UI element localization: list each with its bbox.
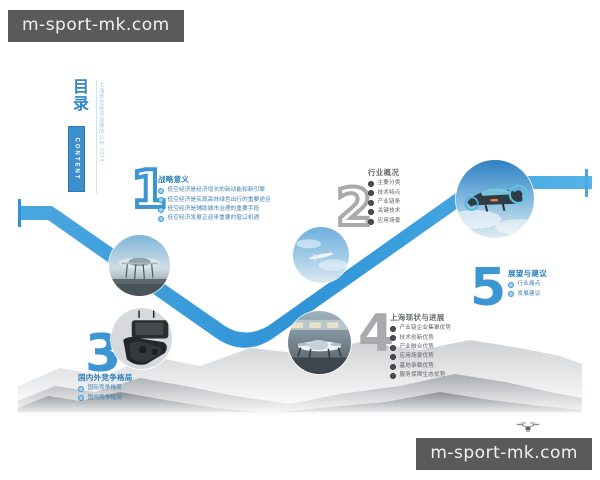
bullet-label: 关键技术 [378, 209, 401, 215]
bullet-item: 国内竞争格局 [78, 395, 133, 401]
bullet-dot-icon [78, 395, 84, 401]
evtol-aircraft-icon [109, 235, 170, 296]
section-bullets-4: 产业链企业集聚优势 技术创新优势 产业融合优势 应用场景优势 基地承载优势 服务… [390, 326, 451, 379]
bullet-label: 技术特点 [378, 191, 401, 197]
bullet-item: 低空经济发展正迎来重要的窗口机遇 [158, 216, 271, 222]
bullet-label: 低空经济发展正迎来重要的窗口机遇 [168, 216, 260, 222]
bullet-dot-icon [158, 207, 164, 213]
bullet-dot-icon [78, 386, 84, 392]
catalog-title-block: 目录 上海低空经济发展的公布 2024 CONTENT [64, 80, 140, 196]
watermark-bottom: m-sport-mk.com [416, 438, 592, 470]
bullet-dot-icon [368, 209, 374, 215]
section-number-5: 5 [470, 262, 506, 314]
bullet-item: 低空经济是辅助城市治理的重要手段 [158, 207, 271, 213]
bullet-dot-icon [158, 188, 164, 194]
bullet-item: 基地承载优势 [390, 364, 451, 370]
bullet-label: 基地承载优势 [400, 364, 434, 370]
section-bullets-5: 行业痛点 发展建议 [508, 282, 547, 297]
bullet-item: 低空经济是实现高效绿色出行的重要途径 [158, 197, 271, 203]
bullet-dot-icon [158, 216, 164, 222]
section-bullets-3: 国际竞争格局 国内竞争格局 [78, 386, 133, 401]
bullet-dot-icon [390, 364, 396, 370]
section-number-2: 2 [336, 182, 372, 234]
rc-controller-icon [111, 308, 172, 369]
section-block-2: 行业概况 主要分类 技术特点 产业链条 关键技术 应用场景 [368, 167, 400, 228]
drone-controller-photo [111, 308, 172, 369]
flying-car-icon [456, 160, 534, 238]
section-bullets-2: 主要分类 技术特点 产业链条 关键技术 应用场景 [368, 181, 400, 225]
bullet-item: 产业链条 [368, 200, 400, 206]
bullet-item: 产业融合优势 [390, 345, 451, 351]
bullet-dot-icon [390, 335, 396, 341]
bullet-label: 国际竞争格局 [88, 386, 122, 392]
section-title-2: 行业概况 [368, 167, 400, 178]
bullet-label: 发展建议 [518, 292, 541, 298]
bullet-dot-icon [368, 219, 374, 225]
bullet-label: 主要分类 [378, 181, 401, 187]
aircraft-in-sky-photo [293, 227, 349, 283]
bullet-dot-icon [158, 197, 164, 203]
bullet-label: 国内竞争格局 [88, 396, 122, 402]
bullet-item: 国际竞争格局 [78, 386, 133, 392]
bullet-item: 关键技术 [368, 209, 400, 215]
bullet-dot-icon [508, 291, 514, 297]
catalog-content-badge: CONTENT [68, 126, 85, 192]
bullet-dot-icon [368, 200, 374, 206]
screenshot-canvas: 目录 上海低空经济发展的公布 2024 CONTENT 1 2 3 4 5 战略… [0, 0, 600, 480]
bullet-item: 产业链企业集聚优势 [390, 326, 451, 332]
bullet-label: 行业痛点 [518, 282, 541, 288]
bullet-item: 应用场景优势 [390, 354, 451, 360]
bullet-label: 服务保障生态优势 [400, 373, 446, 379]
section-block-3: 国内外竞争格局 国际竞争格局 国内竞争格局 [78, 372, 133, 405]
section-title-3: 国内外竞争格局 [78, 372, 133, 383]
evtol-hangar-icon [288, 311, 351, 374]
flying-car-photo [456, 160, 534, 238]
section-block-4: 上海现状与进展 产业链企业集聚优势 技术创新优势 产业融合优势 应用场景优势 基… [390, 312, 451, 382]
bullet-item: 技术创新优势 [390, 335, 451, 341]
bullet-label: 产业链企业集聚优势 [400, 326, 452, 332]
bullet-dot-icon [390, 373, 396, 379]
section-number-4: 4 [358, 308, 394, 360]
bullet-item: 技术特点 [368, 190, 400, 196]
section-block-1: 战略意义 低空经济是经济增长的新动能和新引擎 低空经济是实现高效绿色出行的重要途… [158, 174, 271, 226]
bullet-label: 应用场景 [378, 219, 401, 225]
bullet-label: 技术创新优势 [400, 336, 434, 342]
bullet-item: 行业痛点 [508, 282, 547, 288]
bullet-label: 低空经济是经济增长的新动能和新引擎 [168, 188, 266, 194]
section-title-5: 展望与建议 [508, 268, 547, 279]
watermark-top: m-sport-mk.com [8, 10, 184, 42]
bullet-item: 主要分类 [368, 181, 400, 187]
bullet-label: 低空经济是实现高效绿色出行的重要途径 [168, 198, 271, 204]
bullet-dot-icon [390, 354, 396, 360]
bullet-dot-icon [390, 326, 396, 332]
bullet-item: 应用场景 [368, 219, 400, 225]
catalog-badge-label: CONTENT [74, 138, 80, 181]
bullet-label: 产业融合优势 [400, 345, 434, 351]
bullet-item: 服务保障生态优势 [390, 373, 451, 379]
evtol-on-ground-photo [109, 235, 170, 296]
catalog-title-cn: 目录 [70, 80, 92, 114]
section-bullets-1: 低空经济是经济增长的新动能和新引擎 低空经济是实现高效绿色出行的重要途径 低空经… [158, 188, 271, 222]
bullet-dot-icon [390, 345, 396, 351]
section-block-5: 展望与建议 行业痛点 发展建议 [508, 268, 547, 301]
bullet-item: 低空经济是经济增长的新动能和新引擎 [158, 188, 271, 194]
bullet-dot-icon [508, 282, 514, 288]
airplane-sky-icon [293, 227, 349, 283]
evtol-hangar-photo [288, 311, 351, 374]
quadcopter-drone-icon [516, 420, 540, 436]
bullet-dot-icon [368, 190, 374, 196]
catalog-subtitle: 上海低空经济发展的公布 2024 [98, 82, 103, 188]
bullet-dot-icon [368, 181, 374, 187]
bullet-label: 低空经济是辅助城市治理的重要手段 [168, 207, 260, 213]
bullet-label: 应用场景优势 [400, 354, 434, 360]
section-title-1: 战略意义 [158, 174, 271, 185]
bullet-item: 发展建议 [508, 291, 547, 297]
presentation-slide: 目录 上海低空经济发展的公布 2024 CONTENT 1 2 3 4 5 战略… [0, 56, 600, 456]
catalog-divider [96, 80, 97, 194]
section-title-4: 上海现状与进展 [390, 312, 451, 323]
bullet-label: 产业链条 [378, 200, 401, 206]
